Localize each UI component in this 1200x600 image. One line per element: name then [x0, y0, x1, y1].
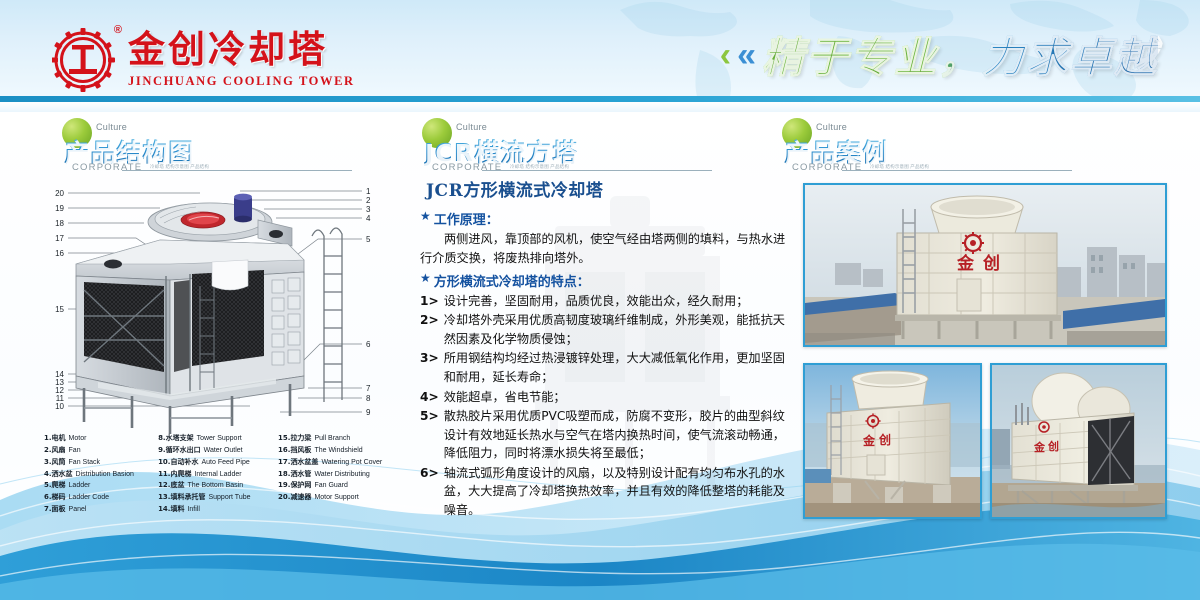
svg-text:9: 9 [366, 408, 371, 417]
legend-no: 1. [44, 434, 52, 442]
legend-cn: 洒水管 [290, 470, 311, 478]
legend-en: Auto Feed Pipe [201, 459, 249, 466]
legend-cn: 自动补水 [170, 458, 198, 466]
legend-en: The Bottom Basin [187, 482, 243, 489]
legend-en: Water Outlet [204, 447, 243, 454]
legend-no: 14. [158, 505, 170, 513]
legend-cn: 电机 [52, 434, 66, 442]
section-heading-product-structure: Culture 产品结构图 CORPORATE 冷却塔 结构示意图 产品结构 [62, 118, 362, 178]
feature-number: 4> [420, 388, 439, 407]
legend-item: 2.风扇Fan [44, 445, 154, 457]
photo-site-tower-right[interactable]: 金 创 [990, 363, 1167, 519]
section-eyebrow: Culture [96, 122, 127, 132]
site-cooling-tower-photo-right: 金 创 [992, 365, 1165, 517]
legend-no: 13. [158, 493, 170, 501]
legend-cn: 风扇 [52, 446, 66, 454]
legend-no: 20. [278, 493, 290, 501]
svg-text:17: 17 [55, 234, 64, 243]
legend-no: 9. [158, 446, 166, 454]
legend-en: Infill [187, 506, 199, 513]
legend-item: 17.洒水盆盖Watering Pot Cover [278, 457, 394, 469]
jcr-crossflow-description: JCR方形横流式冷却塔 ★ 工作原理： 两侧进风，靠顶部的风机，使空气经由塔两侧… [420, 176, 790, 526]
svg-text:19: 19 [55, 204, 64, 213]
brand-name-cn: 金创冷却塔 [128, 31, 355, 68]
legend-item: 3.风筒Fan Stack [44, 457, 154, 469]
legend-en: Tower Support [197, 435, 242, 442]
star-bullet-icon: ★ [420, 271, 431, 286]
section-subtitle: CORPORATE [72, 162, 142, 173]
legend-item: 9.循环水出口Water Outlet [158, 445, 274, 457]
legend-cn: 挡风板 [290, 446, 311, 454]
svg-text:金: 金 [956, 253, 975, 274]
svg-text:7: 7 [366, 384, 371, 393]
legend-item: 20.减速器Motor Support [278, 492, 394, 504]
feature-number: 1> [420, 292, 439, 311]
legend-column-1: 1.电机Motor 2.风扇Fan 3.风筒Fan Stack 4.洒水盆Dis… [44, 433, 154, 516]
legend-no: 2. [44, 446, 52, 454]
jcr-heading: JCR方形横流式冷却塔 [426, 176, 790, 201]
feature-text: 冷却塔外壳采用优质高韧度玻璃纤维制成，外形美观，能抵抗天然因素及化学物质侵蚀； [444, 311, 790, 348]
legend-cn: 爬梯 [52, 481, 66, 489]
legend-no: 11. [158, 470, 170, 478]
feature-text: 散热胶片采用优质PVC吸塑而成，防腐不变形，胶片的曲型斜纹设计有效地延长热水与空… [444, 407, 790, 463]
legend-en: Internal Ladder [194, 471, 241, 478]
legend-cn: 底盆 [170, 481, 184, 489]
registered-mark: ® [114, 24, 122, 36]
legend-item: 15.拉力梁Pull Branch [278, 433, 394, 445]
legend-cn: 洒水盆盖 [290, 458, 318, 466]
legend-en: Motor Support [314, 494, 358, 501]
svg-text:金: 金 [862, 433, 876, 448]
photo-site-tower-left[interactable]: 金 创 [803, 363, 982, 519]
legend-column-2: 8.水塔支架Tower Support 9.循环水出口Water Outlet … [158, 433, 274, 516]
legend-no: 15. [278, 434, 290, 442]
svg-text:6: 6 [366, 340, 371, 349]
legend-en: Support Tube [208, 494, 250, 501]
section-subtitle: CORPORATE [432, 162, 502, 173]
legend-en: Distribution Basion [76, 471, 134, 478]
svg-text:创: 创 [1047, 439, 1059, 453]
legend-cn: 填料 [170, 505, 184, 513]
svg-text:15: 15 [55, 305, 64, 314]
svg-text:2: 2 [366, 196, 371, 205]
legend-en: Fan Stack [69, 459, 101, 466]
chevron-single-icon: ‹ [720, 38, 731, 72]
cooling-tower-cutaway-illustration: 201918 171615 141312 1110 123 456 789 [40, 176, 390, 436]
svg-text:18: 18 [55, 219, 64, 228]
svg-text:5: 5 [366, 235, 371, 244]
principle-text: 两侧进风，靠顶部的风机，使空气经由塔两侧的填料，与热水进行介质交换，将废热排向塔… [420, 230, 790, 268]
section-micro-text: 冷却塔 结构示意图 产品结构 [870, 163, 929, 169]
chevron-double-icon: « [737, 38, 756, 72]
slogan-text: 精于专业，力求卓越 [762, 24, 1158, 85]
svg-text:10: 10 [55, 402, 64, 411]
star-bullet-icon: ★ [420, 209, 431, 224]
legend-item: 19.保护网Fan Guard [278, 480, 394, 492]
section-eyebrow: Culture [816, 122, 847, 132]
legend-no: 18. [278, 470, 290, 478]
feature-number: 3> [420, 349, 439, 386]
legend-en: Watering Pot Cover [321, 459, 382, 466]
legend-item: 1.电机Motor [44, 433, 154, 445]
legend-en: The Windshield [314, 447, 362, 454]
feature-number: 2> [420, 311, 439, 348]
legend-item: 14.填料Infill [158, 504, 274, 516]
legend-item: 13.填料承托管Support Tube [158, 492, 274, 504]
svg-text:16: 16 [55, 249, 64, 258]
feature-text: 设计完善，坚固耐用，品质优良，效能出众，经久耐用； [444, 292, 790, 311]
legend-column-3: 15.拉力梁Pull Branch 16.挡风板The Windshield 1… [278, 433, 394, 516]
brochure-page: ® 金创冷却塔 JINCHUANG COOLING TOWER ‹ « 精于专业… [0, 0, 1200, 600]
section-micro-text: 冷却塔 结构示意图 产品结构 [150, 163, 209, 169]
rooftop-cooling-tower-photo: 金 创 [805, 185, 1165, 345]
legend-item: 8.水塔支架Tower Support [158, 433, 274, 445]
legend-cn: 保护网 [290, 481, 311, 489]
feature-item: 5>散热胶片采用优质PVC吸塑而成，防腐不变形，胶片的曲型斜纹设计有效地延长热水… [420, 407, 790, 463]
features-list: 1>设计完善，坚固耐用，品质优良，效能出众，经久耐用； 2>冷却塔外壳采用优质高… [420, 292, 790, 520]
legend-cn: 水塔支架 [166, 434, 194, 442]
section-rule [842, 170, 1072, 171]
feature-item: 6>轴流式弧形角度设计的风扇，以及特别设计配有均匀布水孔的水盆，大大提高了冷却塔… [420, 464, 790, 520]
legend-en: Pull Branch [314, 435, 350, 442]
feature-text: 效能超卓，省电节能； [444, 388, 790, 407]
feature-text: 轴流式弧形角度设计的风扇，以及特别设计配有均匀布水孔的水盆，大大提高了冷却塔换热… [444, 464, 790, 520]
legend-no: 17. [278, 458, 290, 466]
legend-en: Ladder Code [69, 494, 109, 501]
legend-en: Ladder [69, 482, 91, 489]
legend-no: 16. [278, 446, 290, 454]
legend-cn: 风筒 [52, 458, 66, 466]
legend-cn: 循环水出口 [166, 446, 201, 454]
section-subtitle: CORPORATE [792, 162, 862, 173]
feature-item: 2>冷却塔外壳采用优质高韧度玻璃纤维制成，外形美观，能抵抗天然因素及化学物质侵蚀… [420, 311, 790, 348]
photo-rooftop-tower[interactable]: 金 创 [803, 183, 1167, 347]
product-structure-diagram: 201918 171615 141312 1110 123 456 789 [40, 176, 390, 436]
legend-item: 4.洒水盆Distribution Basion [44, 469, 154, 481]
feature-text: 所用钢结构均经过热浸镀锌处理，大大减低氧化作用，更加坚固和耐用，延长寿命； [444, 349, 790, 386]
brand-name-en: JINCHUANG COOLING TOWER [128, 75, 355, 88]
legend-item: 12.底盆The Bottom Basin [158, 480, 274, 492]
page-header: ® 金创冷却塔 JINCHUANG COOLING TOWER ‹ « 精于专业… [0, 0, 1200, 112]
legend-no: 4. [44, 470, 52, 478]
legend-item: 10.自动补水Auto Feed Pipe [158, 457, 274, 469]
legend-cn: 内爬梯 [170, 470, 191, 478]
parts-legend: 1.电机Motor 2.风扇Fan 3.风筒Fan Stack 4.洒水盆Dis… [44, 433, 394, 516]
legend-cn: 洒水盆 [52, 470, 73, 478]
feature-number: 6> [420, 464, 439, 520]
legend-item: 5.爬梯Ladder [44, 480, 154, 492]
feature-item: 3>所用钢结构均经过热浸镀锌处理，大大减低氧化作用，更加坚固和耐用，延长寿命； [420, 349, 790, 386]
principle-label-row: ★ 工作原理： [420, 209, 790, 228]
svg-text:创: 创 [982, 253, 1000, 274]
svg-text:4: 4 [366, 214, 371, 223]
legend-no: 12. [158, 481, 170, 489]
svg-text:8: 8 [366, 394, 371, 403]
legend-no: 3. [44, 458, 52, 466]
legend-item: 18.洒水管Water Distributing [278, 469, 394, 481]
brand-logo[interactable]: ® 金创冷却塔 JINCHUANG COOLING TOWER [52, 26, 355, 92]
legend-cn: 梯码 [52, 493, 66, 501]
legend-item: 11.内爬梯Internal Ladder [158, 469, 274, 481]
legend-no: 6. [44, 493, 52, 501]
svg-text:20: 20 [55, 189, 64, 198]
legend-en: Fan [69, 447, 81, 454]
svg-text:金: 金 [1033, 440, 1046, 454]
legend-no: 5. [44, 481, 52, 489]
legend-cn: 填料承托管 [170, 493, 205, 501]
header-divider-shadow [0, 102, 1200, 112]
svg-text:创: 创 [878, 432, 891, 447]
section-rule [122, 170, 352, 171]
legend-item: 7.面板Panel [44, 504, 154, 516]
legend-cn: 减速器 [290, 493, 311, 501]
legend-en: Water Distributing [314, 471, 369, 478]
svg-text:3: 3 [366, 205, 371, 214]
legend-no: 7. [44, 505, 52, 513]
legend-item: 16.挡风板The Windshield [278, 445, 394, 457]
features-label: 方形横流式冷却塔的特点： [434, 271, 590, 290]
legend-item: 6.梯码Ladder Code [44, 492, 154, 504]
legend-cn: 面板 [52, 505, 66, 513]
section-rule [482, 170, 712, 171]
feature-number: 5> [420, 407, 439, 463]
section-eyebrow: Culture [456, 122, 487, 132]
feature-item: 4>效能超卓，省电节能； [420, 388, 790, 407]
features-label-row: ★ 方形横流式冷却塔的特点： [420, 271, 790, 290]
svg-text:1: 1 [366, 187, 371, 196]
legend-no: 19. [278, 481, 290, 489]
site-cooling-tower-photo-left: 金 创 [805, 365, 980, 517]
principle-label: 工作原理： [434, 209, 499, 228]
gear-logo-icon: ® [52, 26, 118, 92]
section-micro-text: 冷却塔 结构示意图 产品结构 [510, 163, 569, 169]
legend-en: Fan Guard [314, 482, 347, 489]
section-heading-product-cases: Culture 产品案例 CORPORATE 冷却塔 结构示意图 产品结构 [782, 118, 1082, 178]
feature-item: 1>设计完善，坚固耐用，品质优良，效能出众，经久耐用； [420, 292, 790, 311]
legend-en: Panel [69, 506, 87, 513]
section-heading-jcr-crossflow: Culture JCR横流方塔 CORPORATE 冷却塔 结构示意图 产品结构 [422, 118, 722, 178]
legend-en: Motor [69, 435, 87, 442]
legend-no: 8. [158, 434, 166, 442]
header-slogan: ‹ « 精于专业，力求卓越 [720, 24, 1158, 85]
legend-cn: 拉力梁 [290, 434, 311, 442]
legend-no: 10. [158, 458, 170, 466]
